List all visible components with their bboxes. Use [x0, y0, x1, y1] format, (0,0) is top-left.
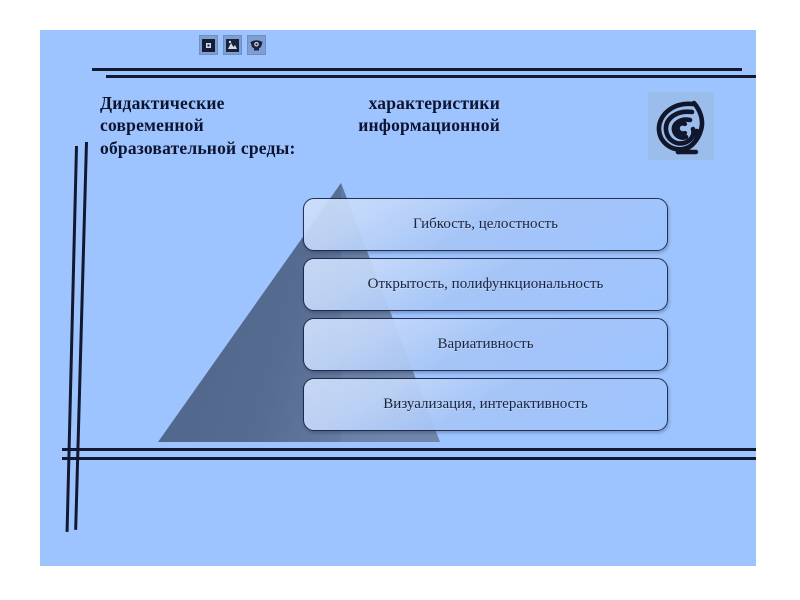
broken-image-icon[interactable] [223, 35, 242, 55]
pyramid-level-box[interactable]: Гибкость, целостность [303, 198, 668, 251]
pyramid-level-box[interactable]: Открытость, полифункциональность [303, 258, 668, 311]
header-rule-upper [92, 68, 742, 71]
icon-strip [199, 34, 266, 56]
footer-rule-lower [62, 457, 756, 460]
pyramid-level-box[interactable]: Вариативность [303, 318, 668, 371]
title-line-3: образовательной среды: [100, 137, 500, 159]
pyramid-level-label: Визуализация, интерактивность [383, 396, 587, 413]
pyramid-level-label: Вариативность [437, 336, 533, 353]
pyramid-level-label: Открытость, полифункциональность [368, 276, 604, 293]
header-rule-lower [106, 75, 756, 78]
title-line-1: Дидактические характеристики [100, 92, 500, 114]
camera-icon[interactable] [247, 35, 266, 55]
spiral-c-logo-icon [648, 92, 714, 160]
pyramid-level-box[interactable]: Визуализация, интерактивность [303, 378, 668, 431]
title-line-2: современной информационной [100, 114, 500, 136]
small-square-icon[interactable] [199, 35, 218, 55]
slide-canvas: Дидактические характеристики современной… [40, 30, 756, 566]
pyramid-level-label: Гибкость, целостность [413, 216, 558, 233]
page-title: Дидактические характеристики современной… [100, 92, 500, 159]
footer-rule-upper [62, 448, 756, 451]
